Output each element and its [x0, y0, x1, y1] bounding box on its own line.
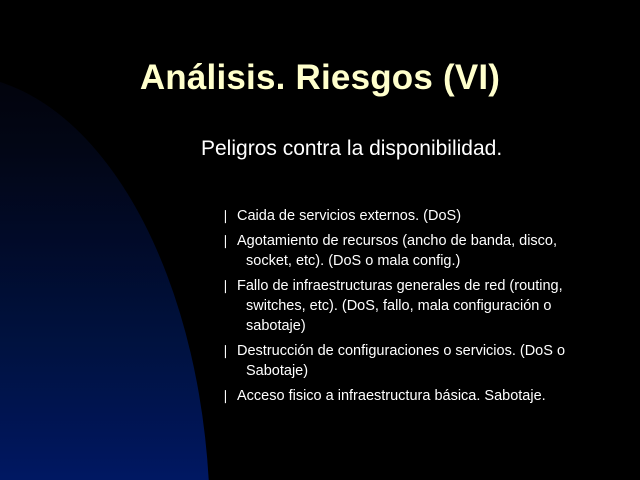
- list-item-label: Caida de servicios externos. (DoS): [237, 208, 461, 224]
- list-item: ❘Agotamiento de recursos (ancho de banda…: [231, 231, 603, 271]
- list-item-label: Fallo de infraestructuras generales de r…: [237, 278, 563, 334]
- slide-content: Análisis. Riesgos (VI) Peligros contra l…: [0, 0, 640, 480]
- slide-subtitle: Peligros contra la disponibilidad.: [201, 137, 502, 161]
- list-item: ❘Destrucción de configuraciones o servic…: [231, 341, 603, 381]
- slide-title: Análisis. Riesgos (VI): [0, 58, 640, 98]
- list-item-label: Acceso fisico a infraestructura básica. …: [237, 388, 546, 404]
- list-item: ❘Caida de servicios externos. (DoS): [231, 206, 603, 226]
- bullet-list: ❘Caida de servicios externos. (DoS) ❘Ago…: [231, 206, 603, 406]
- presentation-slide: Análisis. Riesgos (VI) Peligros contra l…: [0, 0, 640, 480]
- list-item: ❘Acceso fisico a infraestructura básica.…: [231, 386, 603, 406]
- list-item: ❘Fallo de infraestructuras generales de …: [231, 276, 603, 336]
- list-item-label: Destrucción de configuraciones o servici…: [237, 343, 565, 379]
- list-item-label: Agotamiento de recursos (ancho de banda,…: [237, 233, 557, 269]
